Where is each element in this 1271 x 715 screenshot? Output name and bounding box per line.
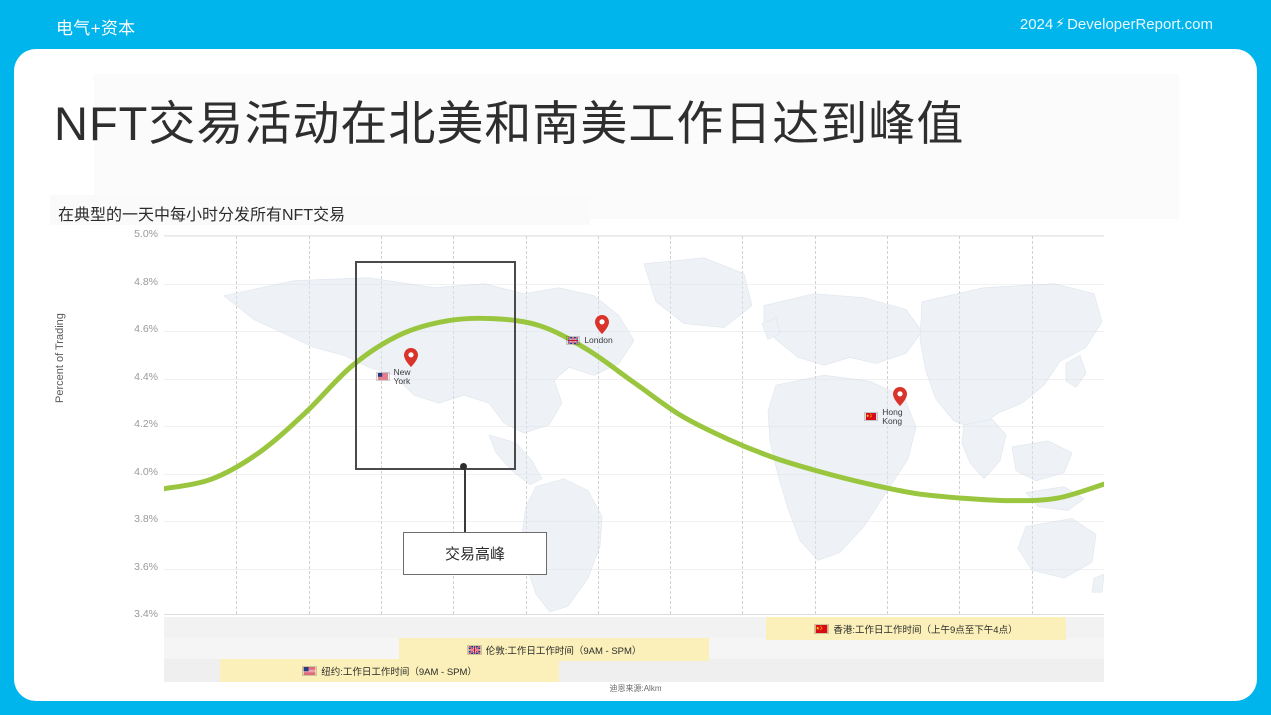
report-year: 2024 [1020,16,1053,33]
business-hours-label: 伦敦:工作日工作时间（9AM - SPM） [467,643,642,657]
callout-label: 交易高峰 [445,543,505,564]
y-tick-label: 3.6% [104,561,158,573]
city-name: NewYork [394,368,411,386]
y-tick-label: 5.0% [104,228,158,240]
y-tick-label: 3.4% [104,608,158,620]
uk-flag-icon [566,336,580,345]
brand-title: 电气+资本 [56,14,135,39]
business-hours-label: 香港:工作日工作时间（上午9点至下午4点） [814,622,1017,636]
y-tick-label: 3.8% [104,513,158,525]
city-marker-label: NewYork [376,368,411,386]
y-tick-label: 4.4% [104,371,158,383]
uk-flag-icon [467,645,482,655]
city-name: HongKong [882,408,902,426]
city-name: London [584,336,612,345]
plot-area: NewYorkLondonHongKong [164,235,1104,615]
y-tick-label: 4.8% [104,276,158,288]
business-hours-bar: 香港:工作日工作时间（上午9点至下午4点） [766,617,1067,640]
cn-flag-icon [814,624,829,634]
callout-box: 交易高峰 [403,532,547,575]
city-marker-label: London [566,336,612,345]
cn-flag-icon [864,412,878,421]
business-hours-bar: 伦敦:工作日工作时间（9AM - SPM） [399,638,709,661]
business-hours-label: 纽约:工作日工作时间（9AM - SPM） [302,664,477,678]
lightning-bolt-icon: ⚡ [1055,15,1065,32]
highlight-rectangle [355,261,517,471]
y-axis-title: Percent of Trading [54,313,66,403]
us-flag-icon [302,666,317,676]
slide-card: NFT交易活动在北美和南美工作日达到峰值 在典型的一天中每小时分发所有NFT交易… [14,49,1257,701]
y-tick-label: 4.2% [104,418,158,430]
business-hours-text: 香港:工作日工作时间（上午9点至下午4点） [833,622,1017,636]
y-tick-label: 4.0% [104,466,158,478]
report-site: DeveloperReport.com [1067,16,1213,33]
chart-container: Percent of Trading 5.0%4.8%4.6%4.4%4.2%4… [60,235,1210,655]
business-hours-text: 纽约:工作日工作时间（9AM - SPM） [321,664,477,678]
business-hours-text: 伦敦:工作日工作时间（9AM - SPM） [486,643,642,657]
business-hours-bar: 纽约:工作日工作时间（9AM - SPM） [220,659,558,682]
y-axis-ticks: 5.0%4.8%4.6%4.4%4.2%4.0%3.8%3.6%3.4% [80,235,158,615]
page-header: 电气+资本 2024 ⚡ DeveloperReport.com [0,0,1271,54]
page-subtitle: 在典型的一天中每小时分发所有NFT交易 [58,201,345,225]
city-marker-label: HongKong [864,408,902,426]
leader-dot [460,463,467,470]
y-tick-label: 4.6% [104,323,158,335]
trading-curve [164,236,1104,614]
business-hours-bars: 香港:工作日工作时间（上午9点至下午4点）伦敦:工作日工作时间（9AM - SP… [164,617,1104,679]
source-note: 迪恩来源:Alkm [14,683,1257,694]
page-title: NFT交易活动在北美和南美工作日达到峰值 [54,85,964,154]
brand-credit: 2024 ⚡ DeveloperReport.com [1020,16,1213,33]
us-flag-icon [376,372,390,381]
